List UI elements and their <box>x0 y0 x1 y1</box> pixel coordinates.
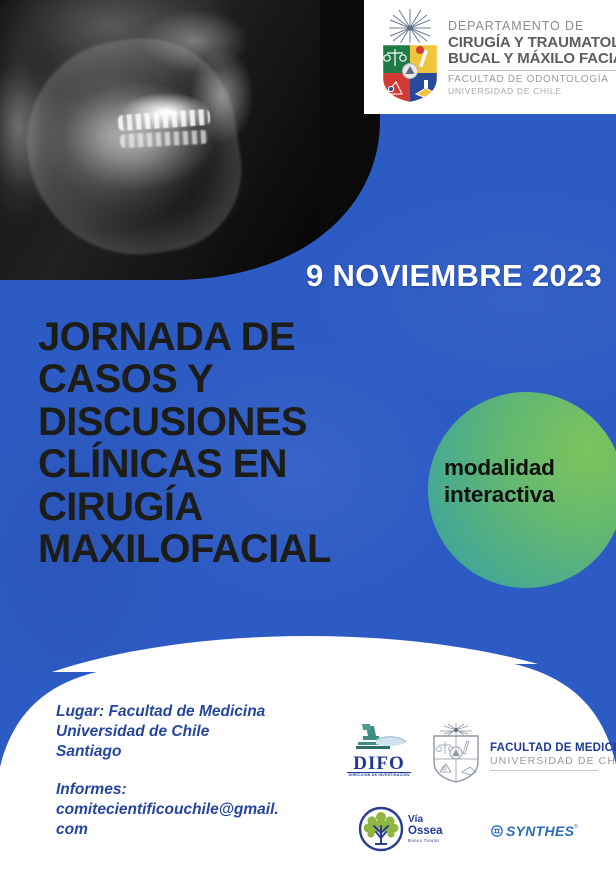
fmed-line-1: FACULTAD DE MEDICINA <box>490 742 616 754</box>
badge-line-interactiva: interactiva <box>444 482 616 509</box>
contact-block: Informes: comitecientificouchile@gmail. … <box>56 780 336 839</box>
microscope-icon <box>350 722 408 755</box>
header-divider <box>448 70 616 71</box>
badge-line-modalidad: modalidad <box>444 455 616 482</box>
via-ossea-line-2: Ossea <box>408 825 443 837</box>
modality-badge-text: modalidad interactiva <box>444 455 616 508</box>
contact-email-part-1[interactable]: comitecientificouchile@gmail. <box>56 800 336 820</box>
starburst-icon <box>387 7 433 47</box>
venue-line-2: Universidad de Chile <box>56 722 336 742</box>
sponsor-logo-synthes: SYNTHES ® <box>491 823 583 843</box>
hero-xray-container <box>0 0 380 280</box>
lateral-cephalometric-xray <box>0 0 380 280</box>
via-ossea-line-3: Banco Tisular <box>408 838 440 843</box>
synthes-wordmark: SYNTHES <box>506 823 574 839</box>
page-title: JORNADA DE CASOS Y DISCUSIONES CLÍNICAS … <box>38 316 418 570</box>
venue-line-3: Santiago <box>56 742 336 762</box>
header-line-cirugia: CIRUGÍA Y TRAUMATOLOGÍA <box>448 35 616 50</box>
fmed-divider <box>490 770 598 771</box>
university-of-chile-coat-of-arms-icon <box>372 6 448 110</box>
tree-circle-icon <box>358 806 404 852</box>
synthes-trademark: ® <box>574 824 578 830</box>
via-ossea-line-1: Vía <box>408 814 423 825</box>
synthes-circle-mark <box>491 825 503 837</box>
coat-of-arms-shield-icon <box>380 42 440 104</box>
contact-label: Informes: <box>56 780 336 800</box>
medicine-faculty-crest-icon <box>428 722 484 784</box>
header-line-universidad: UNIVERSIDAD DE CHILE <box>448 87 616 96</box>
difo-tagline: DIRECCIÓN DE INVESTIGACIÓN <box>346 773 412 777</box>
fmed-line-2: UNIVERSIDAD DE CHILE <box>490 755 616 767</box>
venue-block: Lugar: Facultad de Medicina Universidad … <box>56 702 336 761</box>
sponsor-logo-via-ossea: Vía Ossea Banco Tisular <box>358 806 450 852</box>
contact-email-part-2[interactable]: com <box>56 820 336 840</box>
header-line-departamento: DEPARTAMENTO DE <box>448 20 616 33</box>
event-date: 9 NOVIEMBRE 2023 <box>306 258 602 294</box>
sponsor-logo-difo: DIFO DIRECCIÓN DE INVESTIGACIÓN <box>346 722 412 782</box>
department-logo-text: DEPARTAMENTO DE CIRUGÍA Y TRAUMATOLOGÍA … <box>448 6 616 95</box>
venue-line-1: Lugar: Facultad de Medicina <box>56 702 336 722</box>
event-poster: DEPARTAMENTO DE CIRUGÍA Y TRAUMATOLOGÍA … <box>0 0 616 874</box>
header-line-bucal: BUCAL Y MÁXILO FACIAL <box>448 51 616 66</box>
sponsor-logo-facultad-medicina: FACULTAD DE MEDICINA UNIVERSIDAD DE CHIL… <box>428 722 600 784</box>
header-line-facultad: FACULTAD DE ODONTOLOGÍA <box>448 75 616 85</box>
department-logo-header: DEPARTAMENTO DE CIRUGÍA Y TRAUMATOLOGÍA … <box>364 0 616 114</box>
